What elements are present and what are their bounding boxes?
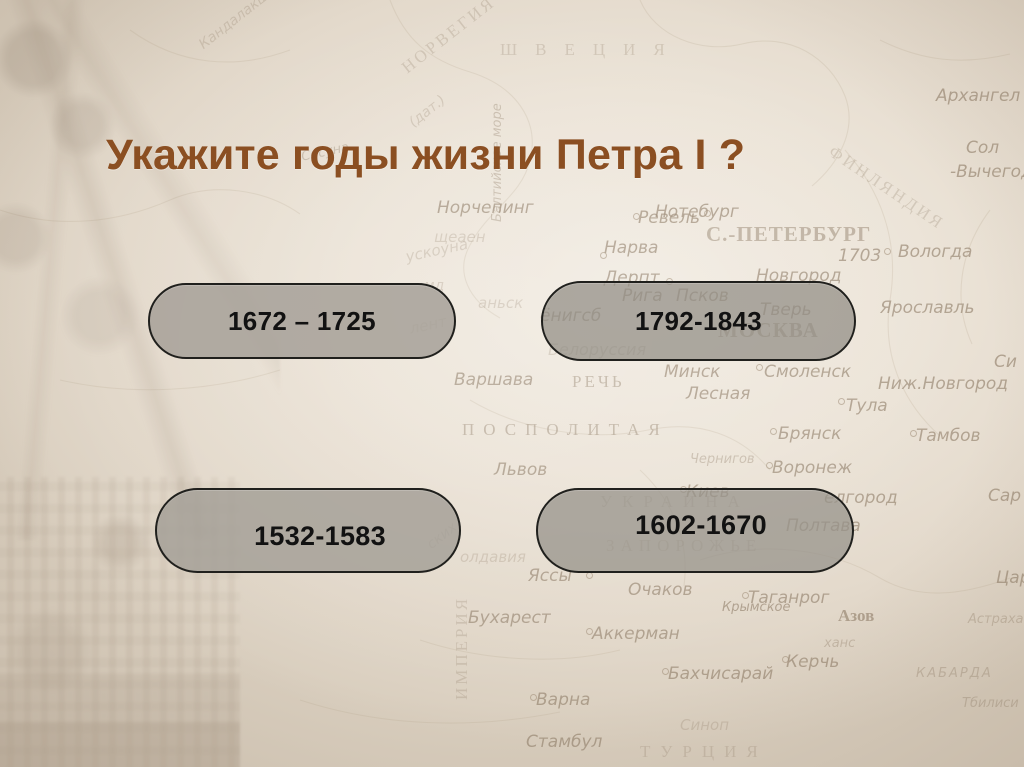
answer-label: 1602-1670	[635, 510, 767, 541]
answer-label: 1532-1583	[254, 521, 386, 552]
answer-option-4[interactable]: 1602-1670	[536, 488, 854, 573]
answer-label: 1672 – 1725	[228, 306, 376, 337]
answer-option-2[interactable]: 1792-1843	[541, 281, 856, 361]
answer-option-1[interactable]: 1672 – 1725	[148, 283, 456, 359]
answer-options: 1672 – 1725 1792-1843 1532-1583 1602-167…	[0, 0, 1024, 767]
answer-option-3[interactable]: 1532-1583	[155, 488, 461, 573]
answer-label: 1792-1843	[635, 306, 762, 337]
quiz-slide: НОРВЕГИЯ (дат.) ШВЕЦИЯ ФИНЛЯНДИЯ Кандала…	[0, 0, 1024, 767]
